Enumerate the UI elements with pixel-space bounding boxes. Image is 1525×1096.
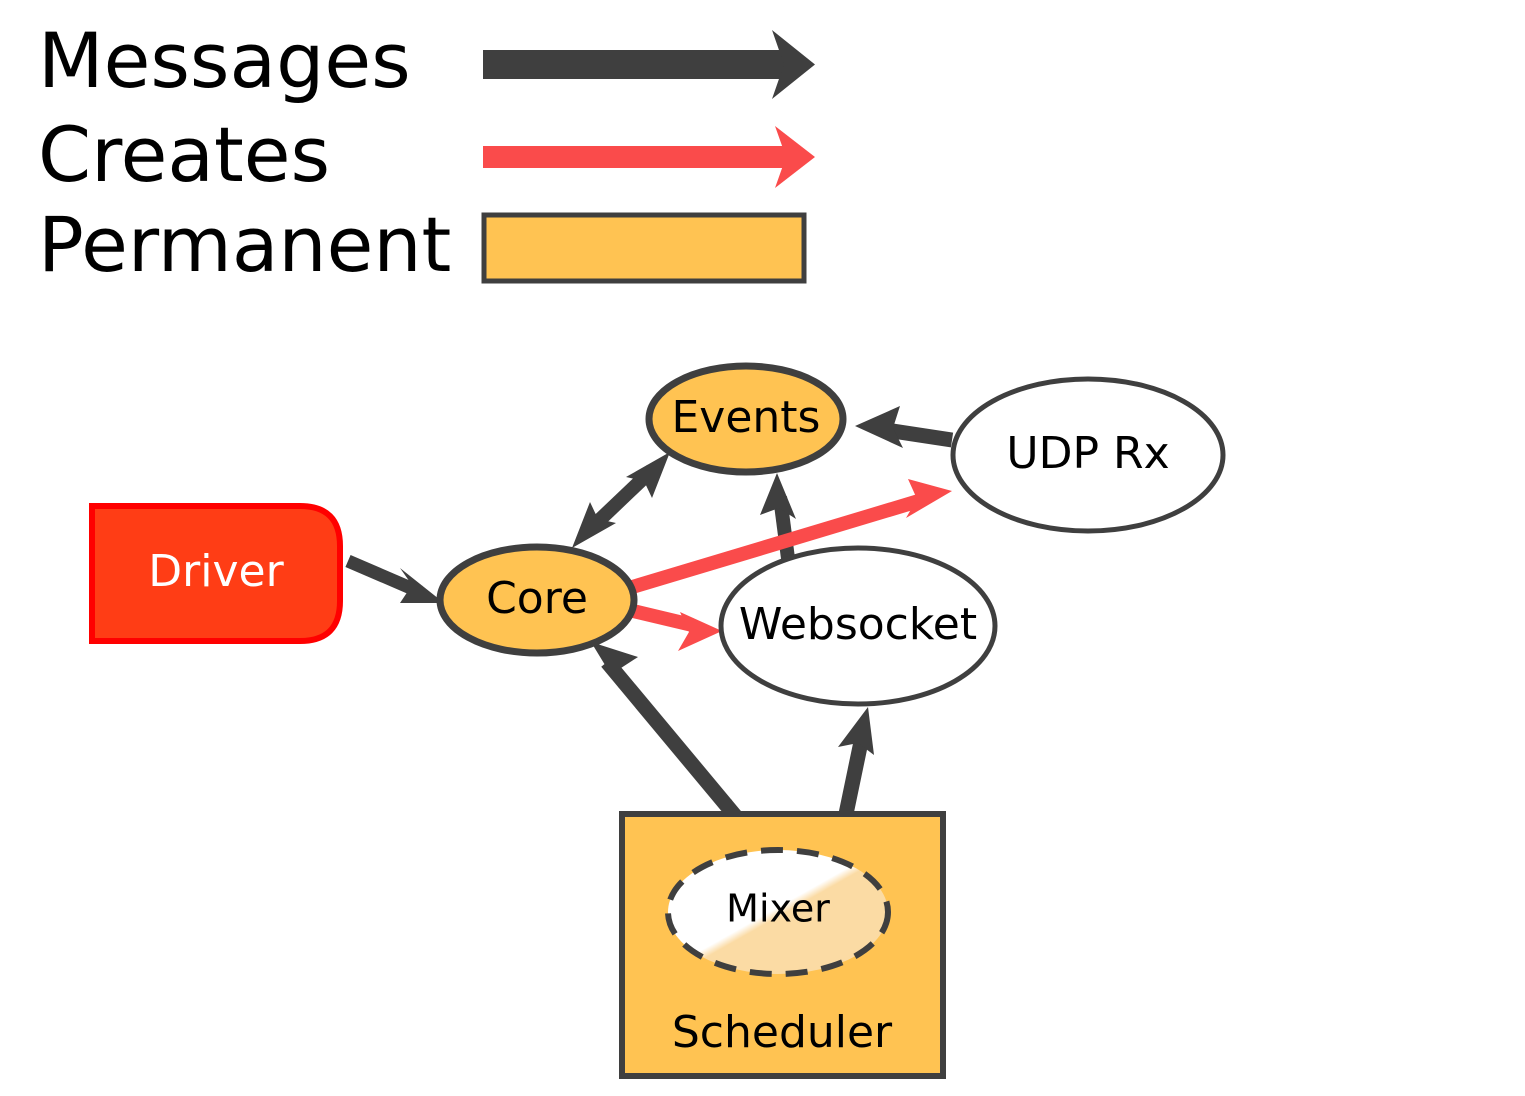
legend-swatch-permanent bbox=[484, 215, 804, 281]
node-label-driver: Driver bbox=[148, 546, 284, 597]
node-label-scheduler: Scheduler bbox=[672, 1007, 893, 1058]
legend-row-messages: Messages bbox=[38, 16, 815, 105]
node-label-events: Events bbox=[672, 392, 821, 443]
diagram-canvas: Messages Creates Permanent bbox=[0, 0, 1525, 1096]
node-driver[interactable]: Driver bbox=[92, 506, 340, 641]
legend-row-creates: Creates bbox=[38, 110, 815, 199]
node-label-core: Core bbox=[486, 573, 588, 624]
edge-core-to-events bbox=[572, 452, 670, 548]
node-label-websocket: Websocket bbox=[739, 599, 977, 650]
legend-row-permanent: Permanent bbox=[38, 200, 804, 289]
node-udp-rx[interactable]: UDP Rx bbox=[953, 379, 1223, 531]
edge-udprx-to-events bbox=[855, 406, 952, 448]
node-label-udp-rx: UDP Rx bbox=[1006, 428, 1169, 479]
edge-driver-to-core bbox=[348, 561, 444, 603]
legend-label-permanent: Permanent bbox=[38, 200, 451, 289]
node-core[interactable]: Core bbox=[440, 547, 634, 653]
node-mixer[interactable]: Mixer bbox=[668, 850, 888, 974]
legend-label-messages: Messages bbox=[38, 16, 411, 105]
legend-arrow-creates bbox=[483, 126, 815, 188]
architecture-diagram: Messages Creates Permanent bbox=[0, 0, 1525, 1096]
node-label-mixer: Mixer bbox=[726, 887, 830, 931]
legend-label-creates: Creates bbox=[38, 110, 330, 199]
node-websocket[interactable]: Websocket bbox=[721, 548, 995, 704]
node-events[interactable]: Events bbox=[649, 366, 843, 472]
legend: Messages Creates Permanent bbox=[38, 16, 815, 289]
legend-arrow-messages bbox=[483, 30, 815, 99]
edge-core-to-websocket-creates bbox=[629, 610, 722, 651]
